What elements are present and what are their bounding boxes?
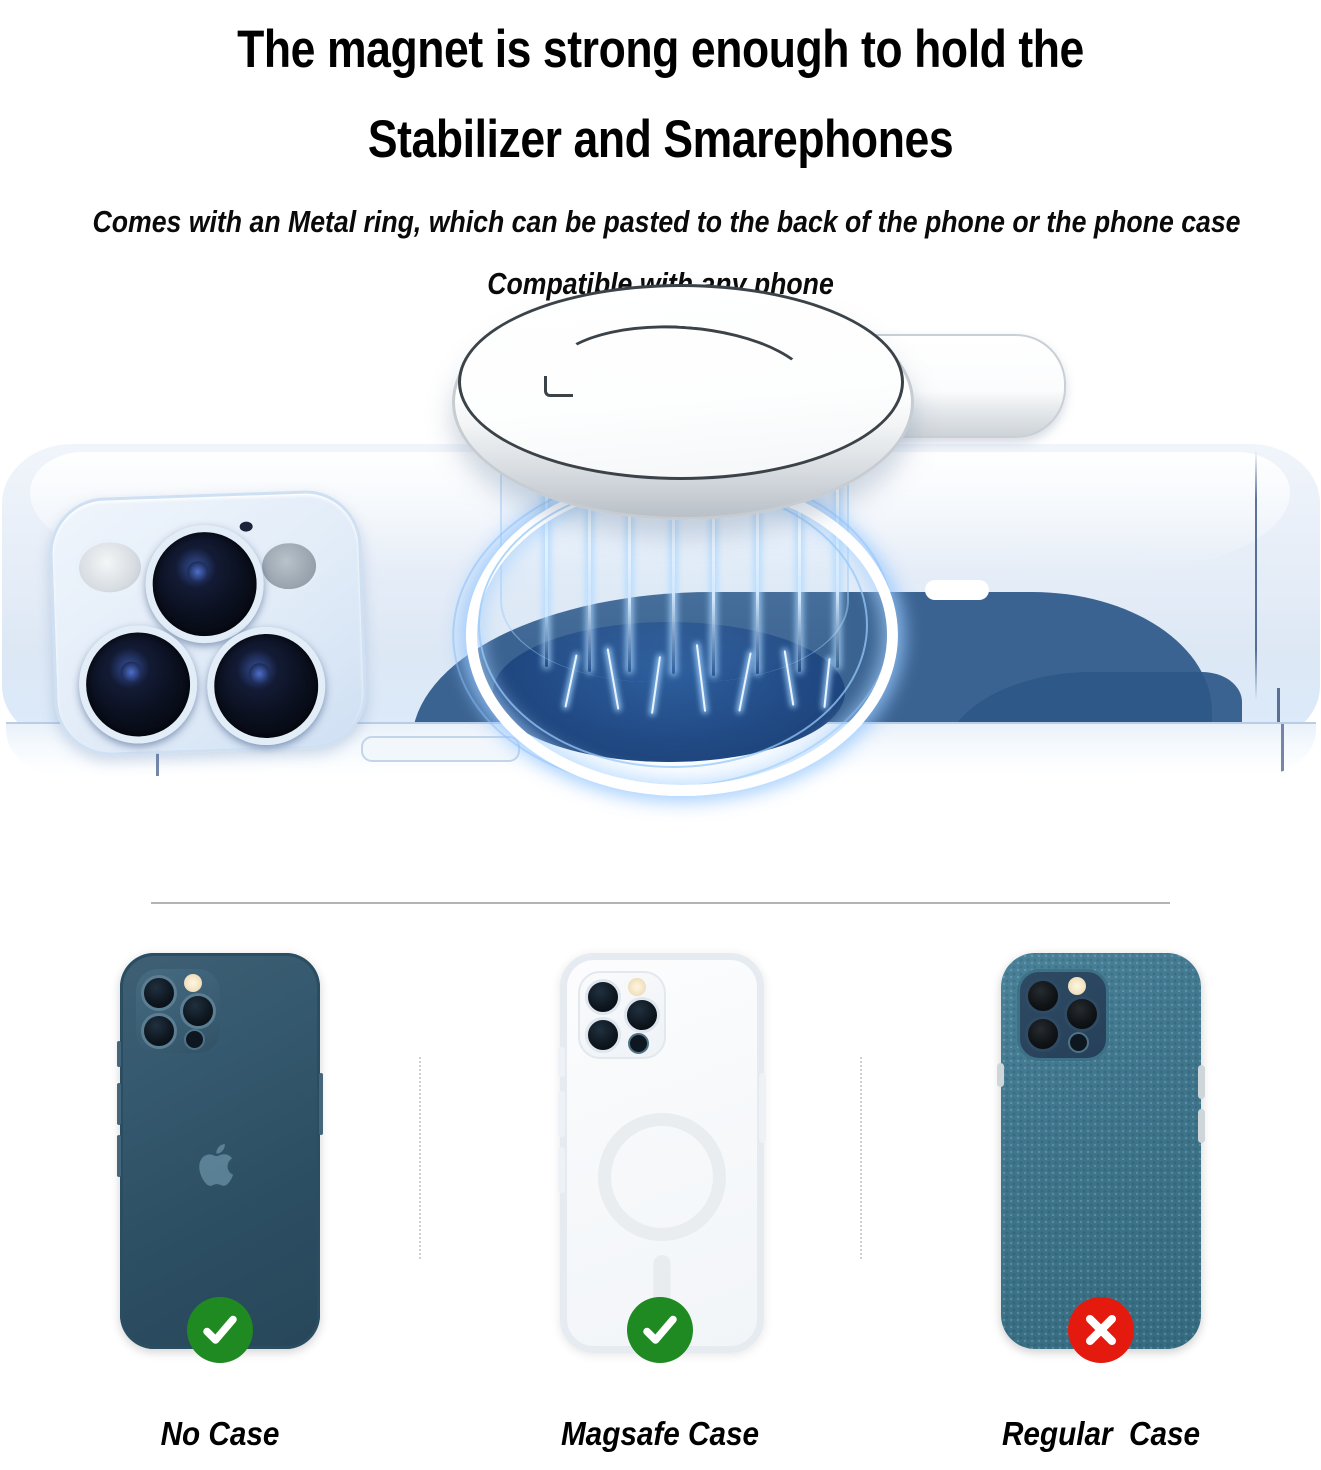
status-badge-not-compatible (1068, 1297, 1134, 1363)
phone-volume-up (117, 1083, 121, 1125)
phone-illustration-regular-case (1001, 925, 1201, 1365)
phone-mute-switch (117, 1041, 121, 1067)
puck-notch-icon (544, 376, 573, 397)
case-mute-cutout (997, 1063, 1004, 1087)
camera-lens-1 (1025, 978, 1061, 1014)
camera-lens-1 (585, 979, 621, 1015)
camera-flash-icon (628, 978, 646, 996)
subheadline-line-1: Comes with an Metal ring, which can be p… (92, 194, 1228, 250)
camera-lens-3 (180, 993, 216, 1029)
hero-camera-module (48, 489, 369, 758)
camera-lens-1 (141, 975, 177, 1011)
camera-flash-icon (74, 537, 146, 597)
compatibility-comparison: No Case (0, 925, 1321, 1470)
lidar-sensor-icon (184, 1029, 205, 1050)
apple-logo-icon (197, 1139, 243, 1191)
case-volume-up-button (1198, 1065, 1205, 1099)
phone-illustration-no-case (120, 925, 320, 1365)
phone-glass-highlight (925, 580, 989, 600)
lidar-sensor-icon (1068, 1032, 1089, 1053)
camera-lens-right (205, 625, 327, 747)
camera-module (578, 971, 666, 1059)
check-icon (640, 1310, 680, 1350)
phone-body-clear-case (560, 953, 764, 1353)
magnet-puck (452, 284, 1072, 544)
status-badge-compatible (627, 1297, 693, 1363)
cross-icon (1082, 1311, 1120, 1349)
column-label-magsafe-case: Magsafe Case (462, 1415, 858, 1453)
rail-seam-right (1281, 724, 1284, 776)
camera-flash-icon (184, 974, 202, 992)
camera-lens-2 (1025, 1016, 1061, 1052)
comparison-column-regular-case: Regular Case (881, 925, 1321, 1470)
column-label-regular-case: Regular Case (903, 1415, 1299, 1453)
case-mute-cutout (558, 1047, 565, 1077)
case-volume-down-button (558, 1147, 565, 1193)
lidar-sensor-icon (628, 1033, 649, 1054)
phone-body-bare (120, 953, 320, 1349)
column-label-no-case: No Case (22, 1415, 418, 1453)
comparison-column-magsafe-case: Magsafe Case (440, 925, 880, 1470)
camera-lens-3 (624, 997, 660, 1033)
camera-module (136, 969, 220, 1053)
phone-volume-down (117, 1135, 121, 1177)
camera-lens-2 (141, 1013, 177, 1049)
phone-body-leather-case (1001, 953, 1201, 1349)
camera-lens-3 (1064, 996, 1100, 1032)
section-divider (151, 902, 1170, 904)
phone-right-edge-line (1255, 450, 1257, 700)
comparison-column-no-case: No Case (0, 925, 440, 1470)
status-badge-compatible (187, 1297, 253, 1363)
camera-lens-2 (585, 1017, 621, 1053)
headline-block: The magnet is strong enough to hold the … (0, 0, 1321, 312)
magsafe-magnet-ring-icon (598, 1113, 726, 1241)
lidar-sensor-icon (258, 539, 320, 593)
headline-line-1: The magnet is strong enough to hold the (106, 2, 1216, 98)
check-icon (200, 1310, 240, 1350)
camera-lens-top (144, 523, 266, 645)
phone-power-button (319, 1073, 323, 1135)
camera-microphone-icon (239, 521, 252, 531)
camera-module (1017, 969, 1109, 1061)
hero-product-illustration (0, 282, 1321, 842)
case-volume-down-button (1198, 1109, 1205, 1143)
case-power-button (759, 1073, 766, 1143)
headline-line-2: Stabilizer and Smarephones (106, 92, 1216, 188)
case-volume-up-button (558, 1091, 565, 1137)
camera-lens-left (77, 623, 199, 745)
phone-illustration-magsafe-case (560, 925, 760, 1365)
phone-side-button (361, 736, 520, 762)
camera-flash-icon (1068, 977, 1086, 995)
